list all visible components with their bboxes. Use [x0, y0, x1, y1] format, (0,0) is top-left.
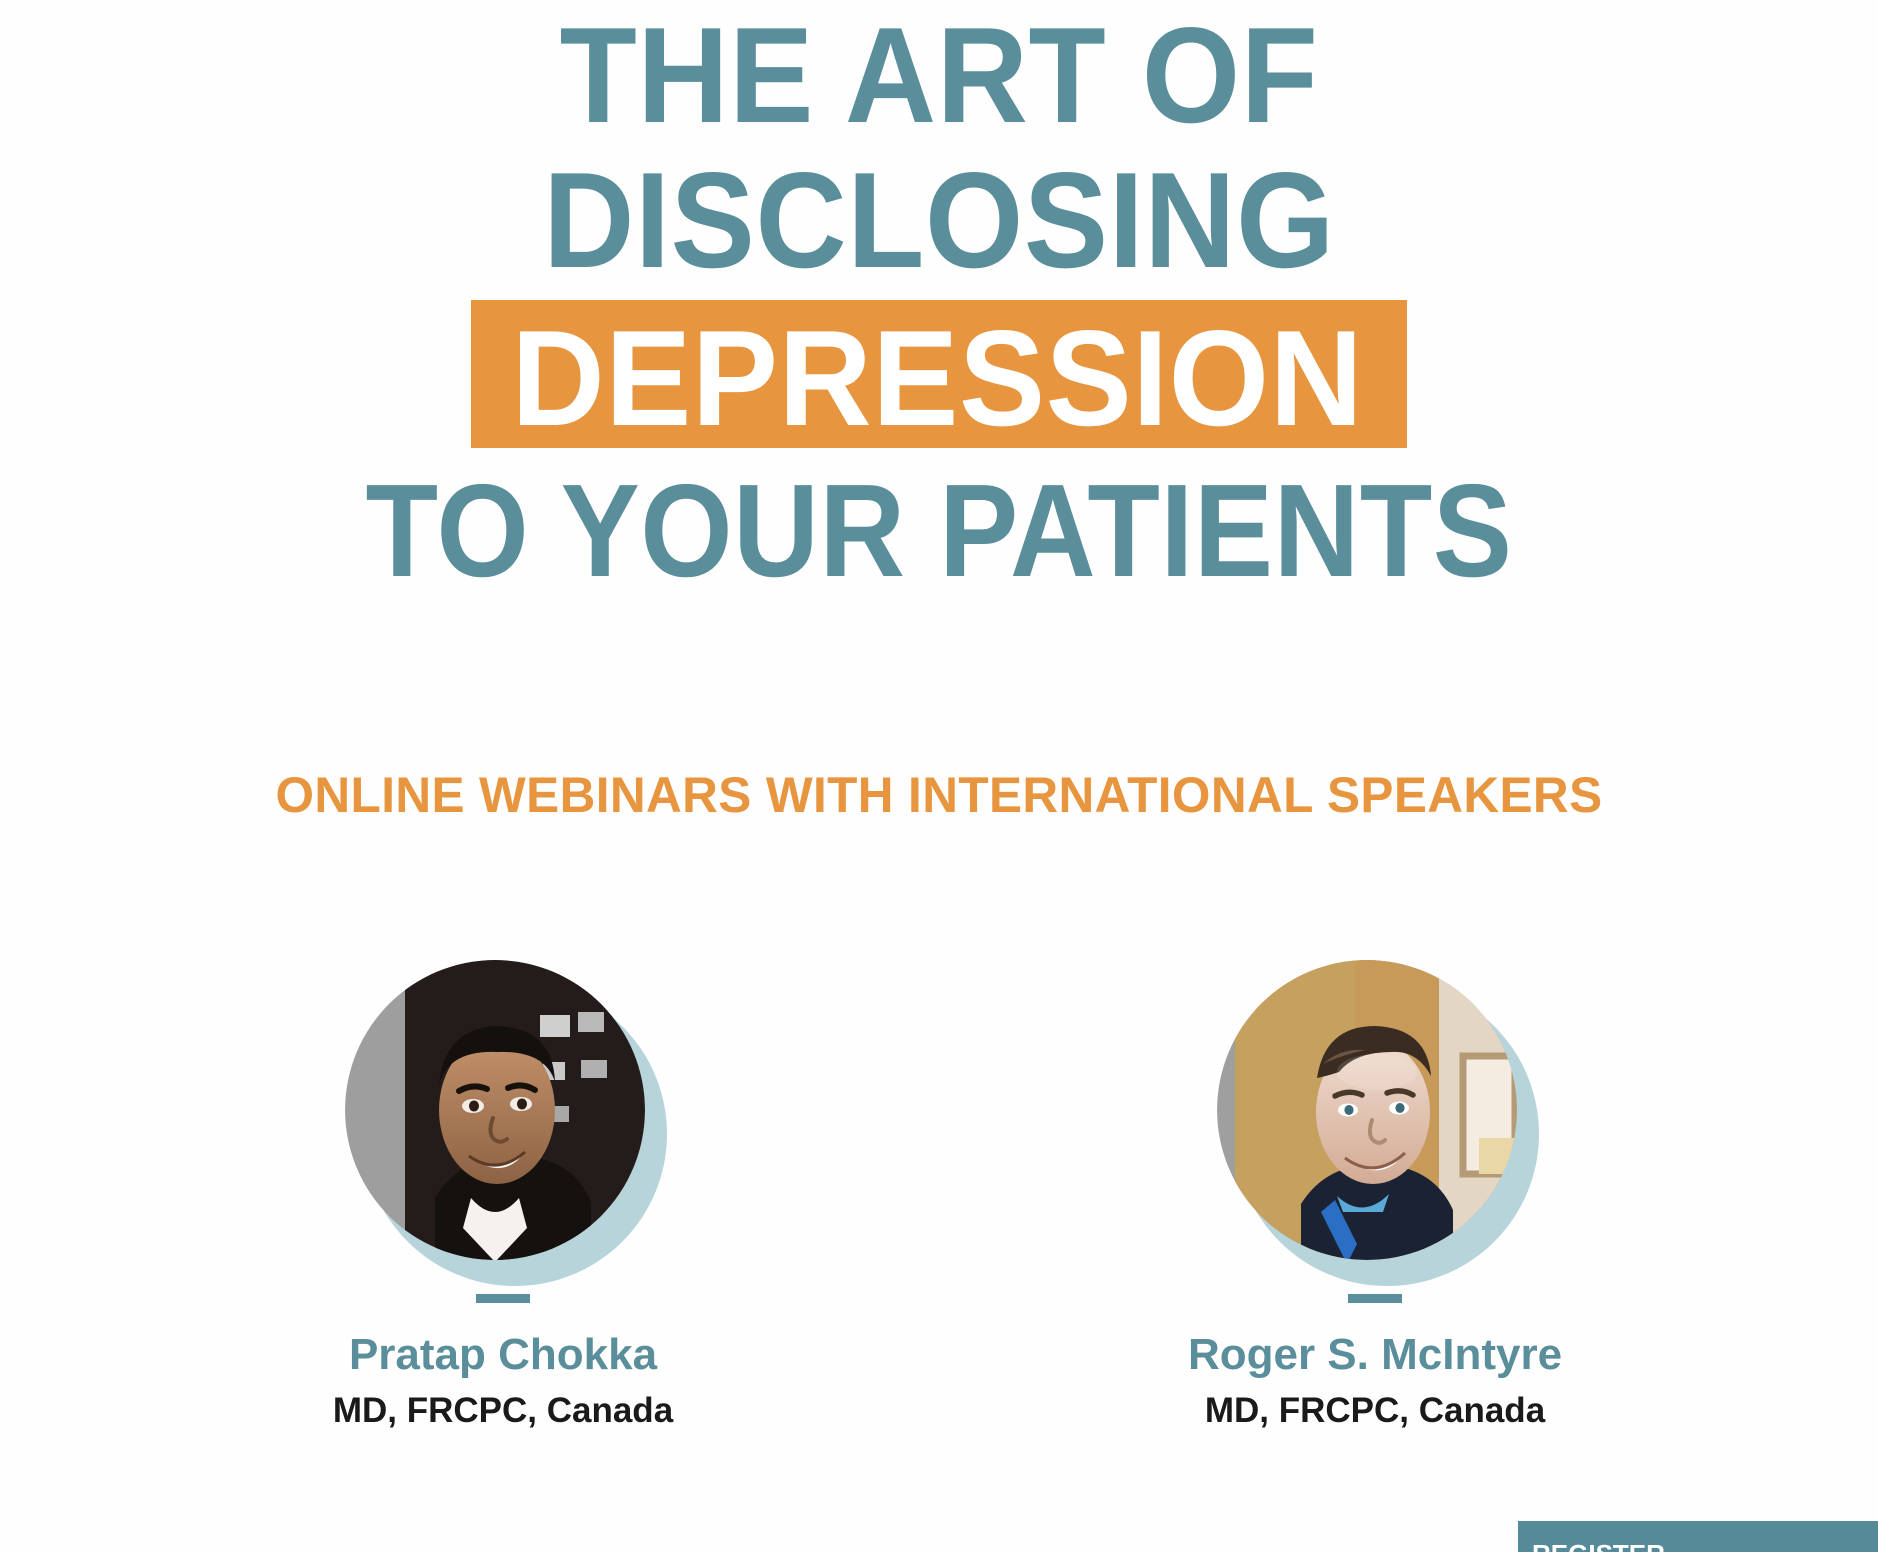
title-line-to-your-patients: TO YOUR PATIENTS: [94, 462, 1784, 600]
speaker-card-roger-mcintyre: Roger S. McIntyre MD, FRCPC, Canada: [1165, 950, 1585, 1431]
speaker-name-pratap-chokka: Pratap Chokka: [349, 1331, 657, 1379]
title-line-disclosing: DISCLOSING: [66, 145, 1813, 290]
avatar-wrap-2: [1205, 950, 1545, 1290]
speaker-name-roger-mcintyre: Roger S. McIntyre: [1188, 1331, 1562, 1379]
register-bar[interactable]: REGISTER: [1518, 1521, 1878, 1552]
avatar-wrap-1: [333, 950, 673, 1290]
speaker-credentials-roger-mcintyre: MD, FRCPC, Canada: [1205, 1391, 1545, 1431]
portrait-illustration-2: [1217, 960, 1517, 1260]
speaker-credentials-pratap-chokka: MD, FRCPC, Canada: [333, 1391, 673, 1431]
avatar-photo-pratap-chokka: [345, 960, 645, 1260]
title-highlight-row: DEPRESSION: [0, 300, 1878, 448]
avatar-photo-roger-mcintyre: [1217, 960, 1517, 1260]
speakers-row: Pratap Chokka MD, FRCPC, Canada: [0, 950, 1878, 1431]
poster-title-block: THE ART OF DISCLOSING DEPRESSION TO YOUR…: [0, 0, 1878, 600]
speaker-name-dash-1: [476, 1294, 530, 1303]
poster-subtitle: ONLINE WEBINARS WITH INTERNATIONAL SPEAK…: [9, 767, 1868, 823]
portrait-illustration-1: [345, 960, 645, 1260]
title-line-the-art-of: THE ART OF: [66, 0, 1813, 145]
poster-root: THE ART OF DISCLOSING DEPRESSION TO YOUR…: [0, 0, 1878, 1552]
register-bar-label: REGISTER: [1532, 1540, 1665, 1552]
speaker-card-pratap-chokka: Pratap Chokka MD, FRCPC, Canada: [293, 950, 713, 1431]
depression-highlight-box: DEPRESSION: [471, 300, 1408, 448]
speaker-name-dash-2: [1348, 1294, 1402, 1303]
title-line-depression: DEPRESSION: [511, 310, 1363, 446]
